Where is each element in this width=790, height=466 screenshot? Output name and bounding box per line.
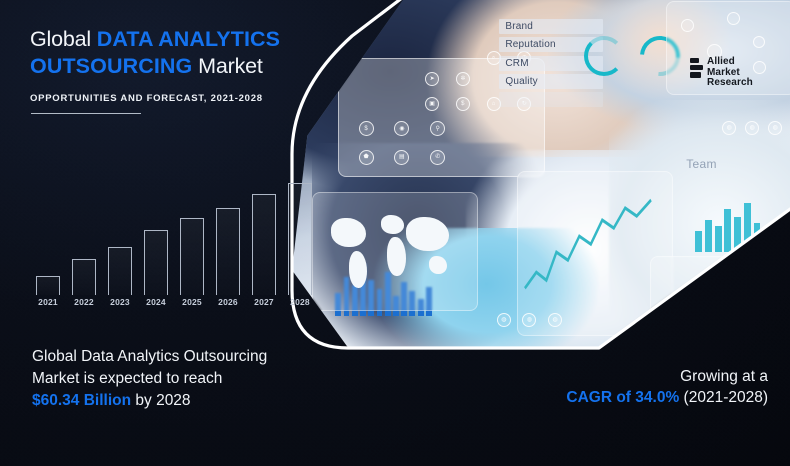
market-value-year: by 2028	[135, 392, 190, 409]
statement-line-2: Market is expected to reach	[32, 368, 332, 390]
cagr-callout: Growing at a CAGR of 34.0% (2021-2028)	[566, 366, 768, 409]
statement-line-1: Global Data Analytics Outsourcing	[32, 346, 332, 368]
minibar	[734, 217, 741, 252]
page-title: Global DATA ANALYTICS OUTSOURCING Market	[30, 26, 322, 80]
photo-minichart-teal	[691, 199, 788, 252]
network-node-b	[727, 12, 740, 25]
x-tick-2028: 2028	[280, 297, 320, 307]
subtitle-underline-divider	[31, 113, 141, 114]
market-value-statement: Global Data Analytics Outsourcing Market…	[32, 346, 332, 412]
bar-2021	[36, 276, 60, 295]
person-icon: ◍	[548, 313, 562, 327]
hud-icon-rocket: ➤	[425, 72, 439, 86]
network-node-e	[753, 61, 766, 74]
x-tick-2027: 2027	[244, 297, 284, 307]
overlay-label-extra	[499, 92, 602, 107]
hud-icon-dollar: $	[456, 97, 470, 111]
title-line-1: Global DATA ANALYTICS	[30, 26, 322, 53]
cagr-period: (2021-2028)	[684, 389, 768, 406]
logo-line-3: Research	[707, 78, 753, 89]
minibar	[724, 209, 731, 253]
hero-photo-collage: $ ◉ ⚲ ⬟ ▤ ✆ ➤ ✲ ▣ $ ⌕ ◷ ⌂ ↻ Brand Reputa…	[292, 0, 790, 348]
overlay-label-brand: Brand	[499, 19, 602, 34]
bar-2026	[216, 208, 240, 295]
network-node-a	[681, 19, 694, 32]
title-word-market: Market	[198, 54, 263, 78]
title-word-outsourcing: OUTSOURCING	[30, 54, 192, 78]
forecast-bar-chart: 2021 2022 2023 2024 2025 2026 2027 2028	[28, 176, 313, 320]
allied-market-research-logo: Allied Market Research	[690, 57, 753, 89]
statement-line-3: $60.34 Billion by 2028	[32, 390, 332, 412]
x-tick-2022: 2022	[64, 297, 104, 307]
logo-line-1: Allied	[707, 57, 753, 68]
hud-icon-gear: ✲	[456, 72, 470, 86]
bar-2024	[144, 230, 168, 295]
x-tick-2025: 2025	[172, 297, 212, 307]
overlay-label-quality: Quality	[499, 74, 602, 89]
minibar	[695, 231, 702, 252]
allied-logo-mark-icon	[690, 57, 703, 80]
market-report-banner: $ ◉ ⚲ ⬟ ▤ ✆ ➤ ✲ ▣ $ ⌕ ◷ ⌂ ↻ Brand Reputa…	[0, 0, 790, 466]
bar-chart-x-axis: 2021 2022 2023 2024 2025 2026 2027 2028	[28, 297, 313, 315]
bar-2025	[180, 218, 204, 295]
left-content-panel: Global DATA ANALYTICS OUTSOURCING Market…	[0, 0, 330, 466]
minibar	[754, 223, 761, 252]
x-tick-2026: 2026	[208, 297, 248, 307]
cagr-line-2: CAGR of 34.0% (2021-2028)	[566, 387, 768, 409]
market-value-amount: $60.34 Billion	[32, 392, 131, 409]
subtitle-opportunities-forecast: OPPORTUNITIES AND FORECAST, 2021-2028	[30, 93, 263, 104]
hud-icon-phone: ✆	[430, 150, 445, 165]
x-tick-2024: 2024	[136, 297, 176, 307]
cagr-value: CAGR of 34.0%	[566, 389, 679, 406]
teal-line-graph	[522, 192, 665, 312]
person-icon: ◍	[497, 313, 511, 327]
hud-label-plan: Plan	[681, 306, 706, 320]
hud-tile-bottomright	[650, 256, 765, 336]
x-tick-2021: 2021	[28, 297, 68, 307]
world-map-graphic	[323, 206, 466, 291]
cagr-line-1: Growing at a	[566, 366, 768, 387]
hud-icon-coin: $	[359, 121, 374, 136]
hud-icon-cart: ▣	[425, 97, 439, 111]
bar-2022	[72, 259, 96, 295]
bar-2027	[252, 194, 276, 295]
title-word-data-analytics: DATA ANALYTICS	[97, 27, 280, 51]
hud-icon-shield: ⬟	[359, 150, 374, 165]
allied-logo-wordmark: Allied Market Research	[707, 57, 753, 89]
minibar	[705, 220, 712, 253]
minibar	[715, 226, 722, 253]
person-icon: ◍	[522, 313, 536, 327]
bar-2028	[288, 183, 312, 295]
hud-label-team: Team	[686, 157, 717, 171]
bar-2023	[108, 247, 132, 295]
bar-chart-plot-area	[28, 176, 313, 295]
title-word-global: Global	[30, 27, 91, 51]
x-tick-2023: 2023	[100, 297, 140, 307]
title-line-2: OUTSOURCING Market	[30, 53, 322, 80]
photo-clip-region: $ ◉ ⚲ ⬟ ▤ ✆ ➤ ✲ ▣ $ ⌕ ◷ ⌂ ↻ Brand Reputa…	[292, 0, 790, 348]
minibar	[744, 203, 751, 253]
